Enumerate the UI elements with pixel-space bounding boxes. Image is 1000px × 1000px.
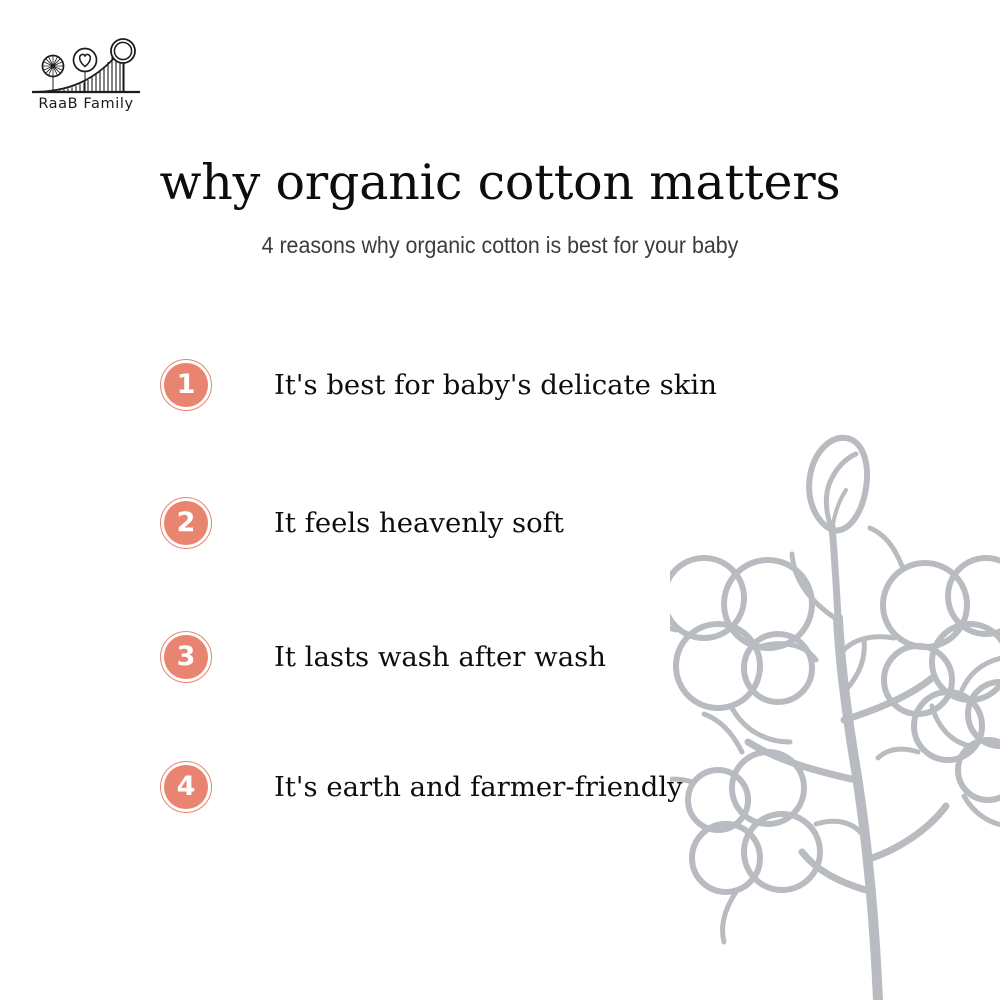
number-badge: 4 (160, 761, 212, 813)
list-item-label: It's earth and farmer-friendly (274, 771, 683, 803)
number-badge-value: 2 (164, 501, 208, 545)
reasons-list: 1 It's best for baby's delicate skin 2 I… (0, 0, 1000, 1000)
list-item: 1 It's best for baby's delicate skin (160, 350, 780, 420)
list-item-label: It feels heavenly soft (274, 507, 564, 539)
poster-canvas: RaaB Family why organic cotton matters 4… (0, 0, 1000, 1000)
number-badge-value: 4 (164, 765, 208, 809)
list-item: 2 It feels heavenly soft (160, 488, 780, 558)
number-badge: 3 (160, 631, 212, 683)
number-badge-value: 1 (164, 363, 208, 407)
list-item: 3 It lasts wash after wash (160, 622, 780, 692)
list-item: 4 It's earth and farmer-friendly (160, 752, 780, 822)
number-badge: 2 (160, 497, 212, 549)
number-badge-value: 3 (164, 635, 208, 679)
number-badge: 1 (160, 359, 212, 411)
list-item-label: It lasts wash after wash (274, 641, 606, 673)
list-item-label: It's best for baby's delicate skin (274, 369, 717, 401)
